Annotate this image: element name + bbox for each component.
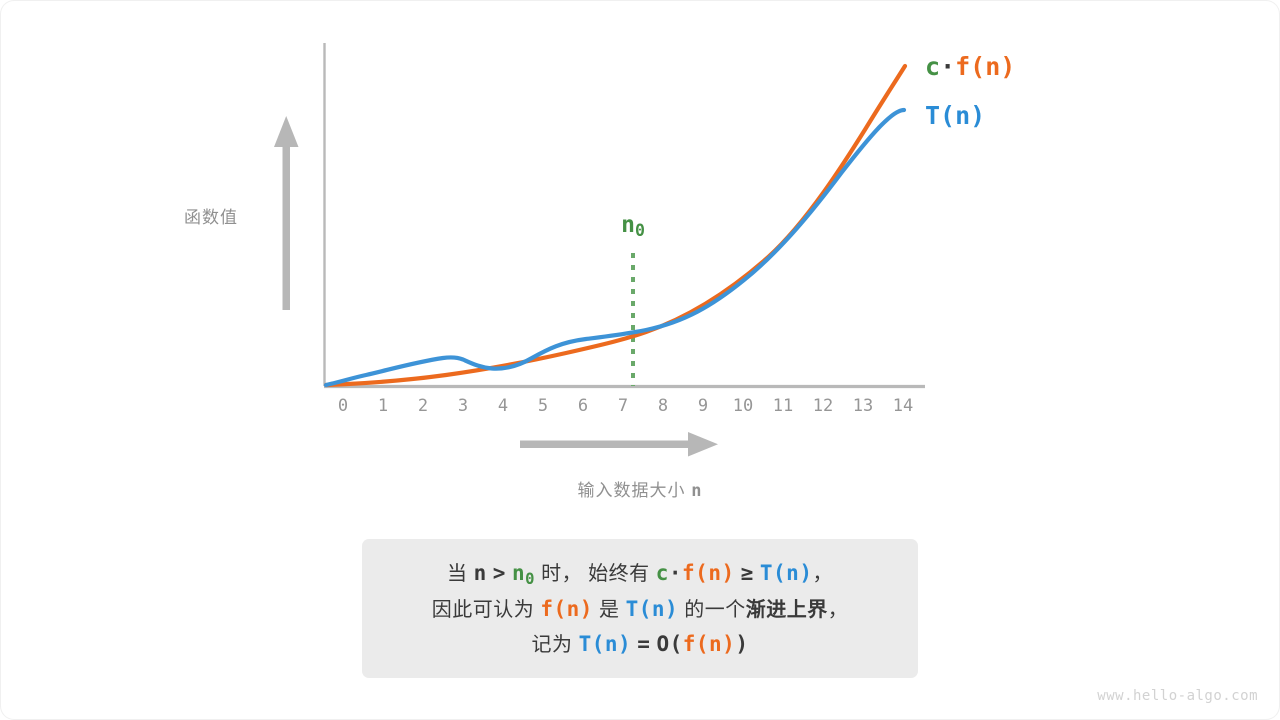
cap2-t-n: T(n) bbox=[626, 597, 679, 621]
x-tick-8: 8 bbox=[658, 394, 668, 418]
curve-t-n bbox=[326, 110, 904, 385]
cap1-when: 当 bbox=[447, 563, 468, 585]
cap2-bound-term: 渐进上界 bbox=[746, 599, 828, 621]
cap3-eq: = bbox=[637, 632, 650, 656]
explanation-box: 当 n > n0 时， 始终有 c·f(n) ≥ T(n)， 因此可认为 f(n… bbox=[362, 539, 918, 678]
x-tick-4: 4 bbox=[498, 394, 508, 418]
explanation-line-3: 记为 T(n) = O(f(n)) bbox=[532, 627, 749, 662]
legend-c: c bbox=[925, 52, 940, 81]
cap1-gt: > bbox=[493, 561, 506, 585]
legend-dot: · bbox=[940, 52, 955, 81]
arrow-up-icon bbox=[274, 116, 299, 310]
x-tick-2: 2 bbox=[418, 394, 428, 418]
x-axis-caption: 输入数据大小 n bbox=[578, 476, 703, 501]
explanation-line-2: 因此可认为 f(n) 是 T(n) 的一个渐进上界， bbox=[432, 592, 848, 627]
x-tick-0: 0 bbox=[338, 394, 348, 418]
cap1-c: c bbox=[656, 561, 669, 585]
cap2-of-a: 的一个 bbox=[684, 599, 746, 621]
cap1-n0: n0 bbox=[512, 561, 535, 585]
n0-subscript: 0 bbox=[635, 221, 645, 240]
y-axis-caption: 函数值 bbox=[184, 203, 238, 228]
x-tick-3: 3 bbox=[458, 394, 468, 418]
x-tick-labels: 0 1 2 3 4 5 6 7 8 9 10 11 12 13 14 bbox=[324, 394, 924, 422]
n0-marker-label: n0 bbox=[621, 212, 645, 238]
watermark: www.hello-algo.com bbox=[1097, 688, 1258, 704]
x-axis-caption-text: 输入数据大小 bbox=[578, 481, 686, 500]
cap3-close-paren: ) bbox=[735, 632, 748, 656]
x-tick-9: 9 bbox=[698, 394, 708, 418]
x-tick-1: 1 bbox=[378, 394, 388, 418]
curve-c-f-n bbox=[326, 66, 905, 385]
cap1-f-n: f(n) bbox=[682, 561, 735, 585]
x-tick-10: 10 bbox=[733, 394, 753, 418]
x-tick-6: 6 bbox=[578, 394, 588, 418]
cap1-dot: · bbox=[669, 561, 682, 585]
x-tick-13: 13 bbox=[853, 394, 873, 418]
x-tick-12: 12 bbox=[813, 394, 833, 418]
cap2-comma: ， bbox=[828, 599, 849, 621]
x-tick-5: 5 bbox=[538, 394, 548, 418]
cap3-t-n: T(n) bbox=[579, 632, 632, 656]
cap2-is: 是 bbox=[599, 599, 620, 621]
explanation-line-1: 当 n > n0 时， 始终有 c·f(n) ≥ T(n)， bbox=[447, 556, 833, 592]
arrow-right-icon bbox=[520, 432, 718, 457]
cap1-n: n bbox=[474, 561, 487, 585]
x-axis-caption-var: n bbox=[691, 481, 702, 501]
cap1-ge: ≥ bbox=[741, 561, 754, 585]
legend-label-c-f-n: c·f(n) bbox=[925, 52, 1015, 81]
figure-canvas: 0 1 2 3 4 5 6 7 8 9 10 11 12 13 14 函数值 输… bbox=[0, 0, 1280, 720]
cap3-big-o: O( bbox=[656, 632, 682, 656]
cap1-always: 始终有 bbox=[588, 563, 650, 585]
legend-label-t-n: T(n) bbox=[925, 101, 985, 130]
n0-base: n bbox=[621, 212, 635, 238]
cap1-then: 时， bbox=[541, 563, 582, 585]
x-tick-11: 11 bbox=[773, 394, 793, 418]
cap3-denoted: 记为 bbox=[532, 634, 573, 656]
x-tick-14: 14 bbox=[893, 394, 913, 418]
cap3-f-n: f(n) bbox=[683, 632, 736, 656]
cap1-t-n: T(n) bbox=[760, 561, 813, 585]
cap1-comma: ， bbox=[812, 563, 833, 585]
cap2-therefore: 因此可认为 bbox=[432, 599, 535, 621]
legend-f-n: f(n) bbox=[955, 52, 1015, 81]
cap2-f-n: f(n) bbox=[540, 597, 593, 621]
x-tick-7: 7 bbox=[618, 394, 628, 418]
